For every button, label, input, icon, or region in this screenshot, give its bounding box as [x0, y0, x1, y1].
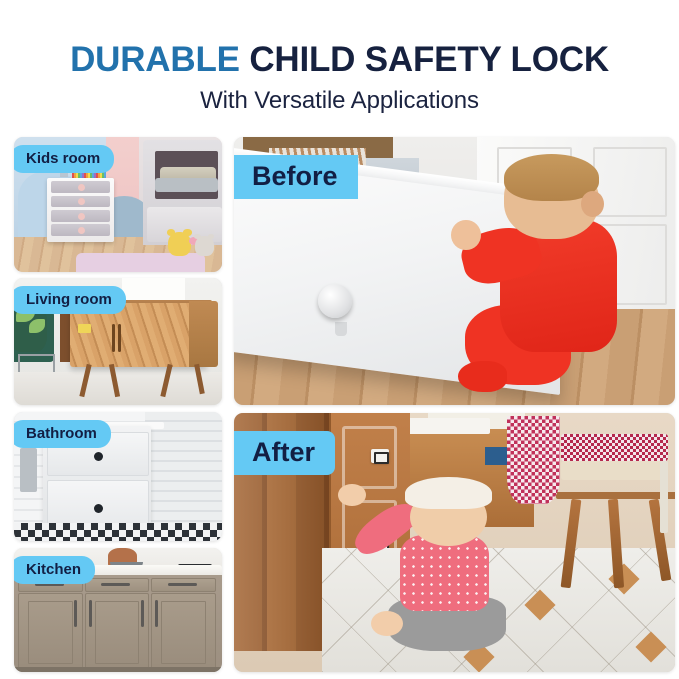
badge-kitchen: Kitchen	[14, 556, 95, 584]
baby-before	[490, 158, 666, 394]
badge-bathroom: Bathroom	[14, 420, 111, 448]
headline-rest: CHILD SAFETY LOCK	[249, 40, 609, 79]
panel-after[interactable]: After	[234, 413, 675, 672]
page-title: DURABLE CHILD SAFETY LOCK	[0, 40, 679, 80]
thumbnail-living-room[interactable]: Living room	[14, 278, 222, 405]
thumbnail-bathroom[interactable]: Bathroom	[14, 412, 222, 541]
header: DURABLE CHILD SAFETY LOCK With Versatile…	[0, 0, 679, 128]
product-infographic: DURABLE CHILD SAFETY LOCK With Versatile…	[0, 0, 679, 679]
badge-after: After	[234, 431, 335, 475]
thumbnail-kitchen[interactable]: Kitchen	[14, 548, 222, 672]
baby-after	[393, 480, 516, 661]
cabinet-lock-icon	[371, 449, 389, 463]
panel-before[interactable]: Before	[234, 137, 675, 405]
badge-before: Before	[234, 155, 358, 199]
high-chair	[552, 423, 675, 594]
page-subtitle: With Versatile Applications	[0, 87, 679, 115]
badge-kids-room: Kids room	[14, 145, 114, 173]
thumbnail-kids-room[interactable]: Kids room	[14, 137, 222, 272]
badge-living-room: Living room	[14, 286, 126, 314]
headline-accent-word: DURABLE	[70, 40, 240, 79]
